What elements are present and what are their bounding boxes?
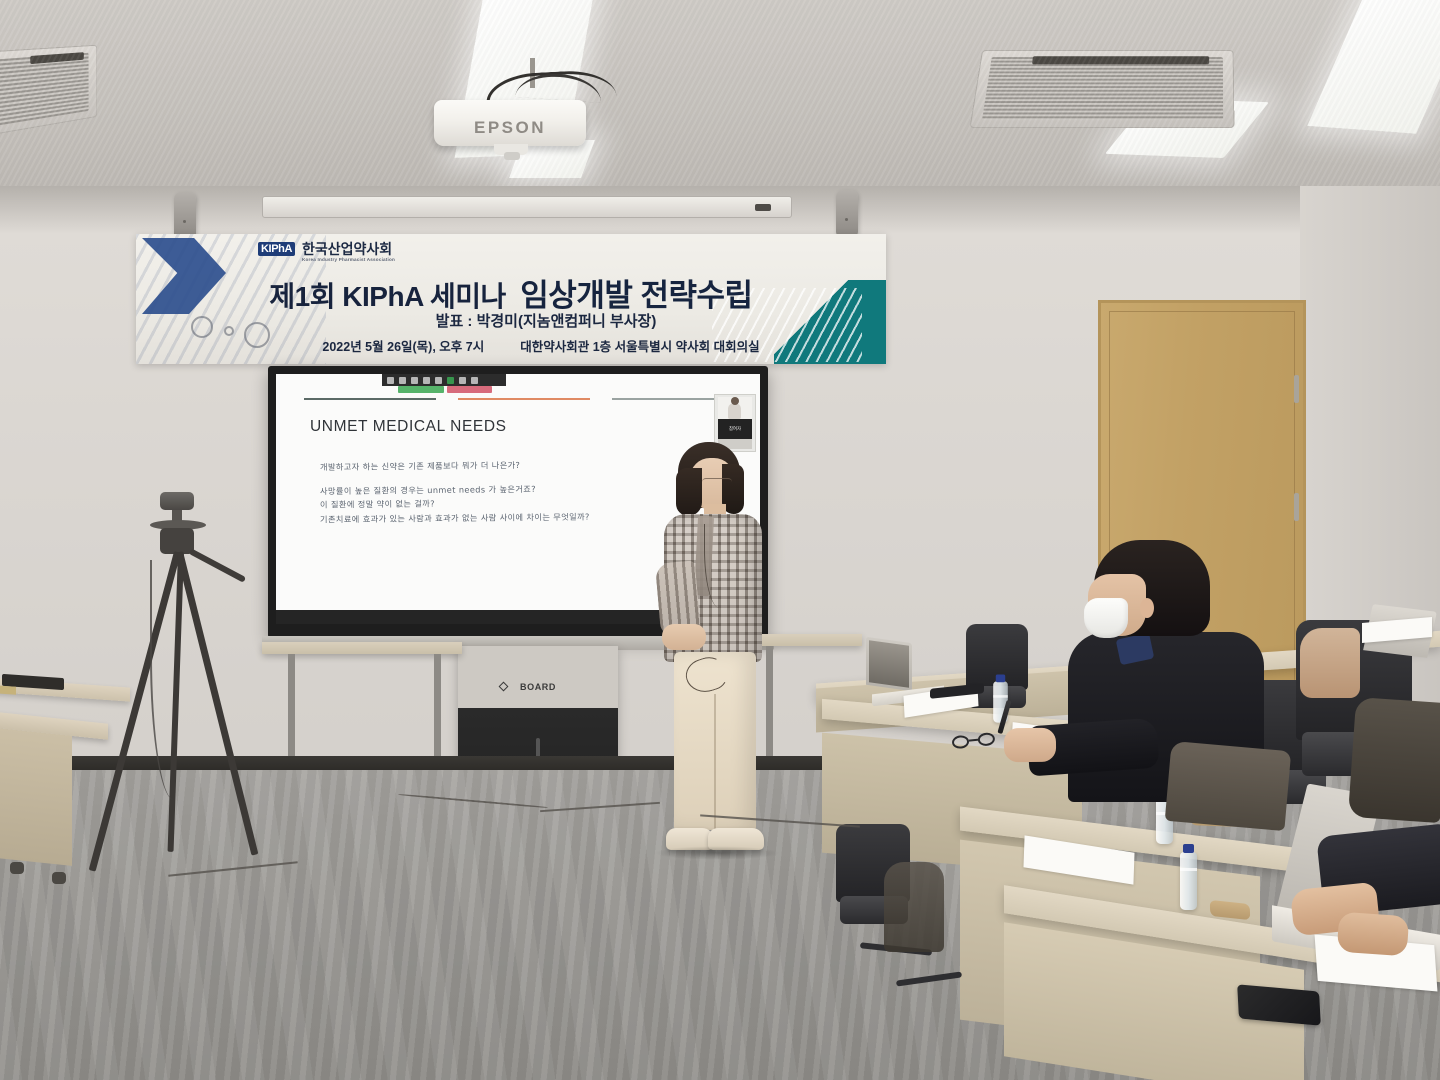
rule-line-accent bbox=[458, 398, 590, 400]
event-banner: KIPhA 한국산업약사회 Korea Industry Pharmacist … bbox=[136, 234, 886, 364]
laptop[interactable] bbox=[866, 640, 928, 700]
door-hinge bbox=[1294, 375, 1299, 403]
bag bbox=[1165, 741, 1292, 831]
banner-date: 2022년 5월 26일(목), 오후 7시 bbox=[322, 336, 484, 355]
org-name-korean: 한국산업약사회 Korea Industry Pharmacist Associ… bbox=[302, 242, 395, 263]
banner-title: 제1회 KIPhA 세미나 임상개발 전략수립 bbox=[136, 270, 886, 315]
presenter-glasses bbox=[702, 478, 732, 488]
webcam bbox=[160, 492, 194, 510]
presenter-hands bbox=[662, 624, 706, 650]
presenter-hair-side bbox=[676, 468, 702, 516]
floor-shadow bbox=[654, 846, 780, 860]
side-table-left bbox=[262, 642, 462, 654]
menu-icon[interactable] bbox=[471, 377, 478, 384]
attendee-partial bbox=[1300, 628, 1360, 698]
handwritten-annotation: 개발하고자 하는 신약은 기존 제품보다 뭐가 더 나은가? bbox=[320, 459, 520, 473]
projector-lens bbox=[504, 152, 520, 160]
air-conditioner-unit bbox=[0, 45, 97, 137]
handwritten-annotation: 이 질환에 정말 약이 없는 걸까? bbox=[320, 497, 435, 510]
handwritten-annotation: 사망률이 높은 질환의 경우는 unmet needs 가 높은거죠? bbox=[320, 483, 536, 497]
seminar-room-photo: EPSON KIPhA 한국산업약사회 Korea Industry Pharm… bbox=[0, 0, 1440, 1080]
banner-title-main: 제1회 KIPhA 세미나 bbox=[269, 281, 505, 312]
highlighter-icon[interactable] bbox=[411, 377, 418, 384]
cabinet-brand-label: BOARD bbox=[458, 682, 618, 692]
presenter-standing bbox=[646, 442, 774, 854]
left-table-body bbox=[0, 724, 72, 866]
org-name-kr-text: 한국산업약사회 bbox=[302, 241, 392, 257]
face-mask bbox=[1084, 598, 1128, 638]
banner-title-emphasis: 임상개발 전략수립 bbox=[520, 278, 752, 313]
rule-line bbox=[304, 398, 436, 400]
thumbnail-person bbox=[728, 403, 741, 419]
attendee-ear bbox=[1140, 598, 1154, 618]
toolbar-status-row bbox=[398, 386, 492, 393]
air-conditioner-unit bbox=[970, 50, 1235, 128]
ceiling bbox=[0, 0, 1440, 196]
ceiling-light-panel bbox=[1307, 0, 1440, 134]
ceiling-light-panel bbox=[1105, 98, 1269, 158]
door-hinge bbox=[1294, 493, 1299, 521]
wall-speaker bbox=[174, 192, 196, 238]
attendee-partial bbox=[1348, 697, 1440, 823]
stop-status-chip bbox=[447, 386, 493, 393]
banner-place: 대한약사회관 1층 서울특별시 약사회 대회의실 bbox=[520, 336, 759, 355]
banner-speaker: 발표 : 박경미(지놈앤컴퍼니 부사장) bbox=[136, 310, 886, 331]
handwritten-annotation: 기존치료에 효과가 있는 사람과 효과가 없는 사람 사이에 차이는 무엇일까? bbox=[320, 511, 590, 526]
attendee-typing bbox=[1320, 830, 1440, 990]
projector-brand-label: EPSON bbox=[434, 118, 586, 138]
window-blind-housing bbox=[262, 196, 792, 218]
screen-share-icon[interactable] bbox=[447, 377, 454, 384]
smartphone[interactable] bbox=[1237, 984, 1321, 1025]
trouser-crease bbox=[714, 694, 716, 830]
participant-name-label: 참여자 bbox=[715, 426, 755, 432]
pointer-icon[interactable] bbox=[387, 377, 394, 384]
attendee-hand bbox=[1004, 728, 1056, 763]
attendee-masked-seated bbox=[1040, 540, 1270, 800]
shape-icon[interactable] bbox=[435, 377, 442, 384]
tripod-head bbox=[160, 528, 194, 554]
pen-icon[interactable] bbox=[399, 377, 406, 384]
record-icon[interactable] bbox=[459, 377, 466, 384]
table-caster bbox=[10, 862, 24, 874]
wall-speaker bbox=[836, 190, 858, 236]
banner-logo: KIPhA 한국산업약사회 Korea Industry Pharmacist … bbox=[258, 242, 395, 263]
eraser-icon[interactable] bbox=[423, 377, 430, 384]
banner-footer: 2022년 5월 26일(목), 오후 7시 대한약사회관 1층 서울특별시 약… bbox=[136, 336, 886, 355]
table-caster bbox=[52, 872, 66, 884]
kipha-logo-mark: KIPhA bbox=[258, 242, 295, 256]
slide-rule-lines bbox=[304, 398, 744, 401]
slide-title: UNMET MEDICAL NEEDS bbox=[310, 418, 507, 436]
share-status-chip bbox=[398, 386, 444, 393]
ceiling-projector: EPSON bbox=[434, 100, 586, 146]
attendee-background bbox=[884, 862, 944, 952]
desk-object-light bbox=[0, 685, 16, 695]
org-name-english: Korea Industry Pharmacist Association bbox=[302, 258, 395, 263]
annotation-toolbar[interactable] bbox=[382, 374, 506, 386]
water-bottle bbox=[1180, 852, 1197, 910]
attendee-hand bbox=[1337, 912, 1410, 957]
